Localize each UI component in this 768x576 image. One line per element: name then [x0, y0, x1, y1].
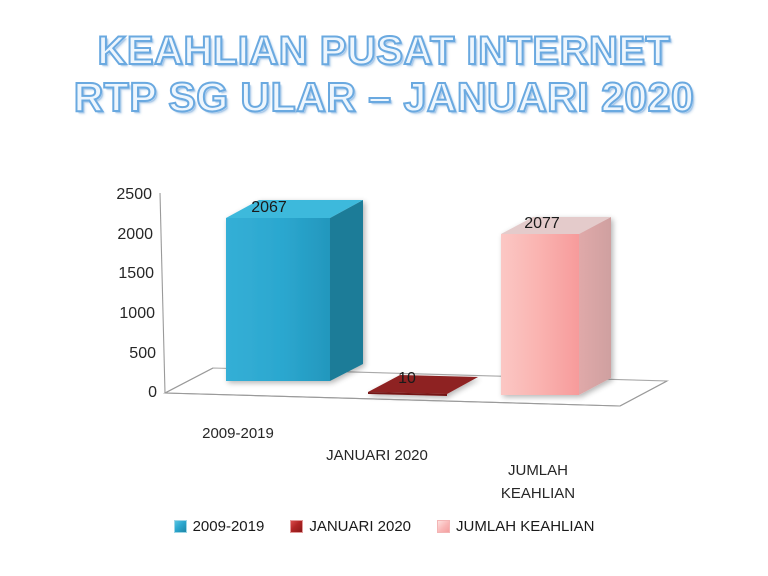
axis-tick-0: 0 — [148, 384, 157, 401]
legend-swatch-icon-1 — [174, 520, 187, 533]
legend-item-jumlah-keahlian[interactable]: JUMLAH KEAHLIAN — [437, 518, 594, 535]
legend-item-2009-2019[interactable]: 2009-2019 — [174, 518, 265, 535]
category-label-1: 2009-2019 — [202, 425, 274, 442]
legend-swatch-icon-3 — [437, 520, 450, 533]
bar-series-jumlah-keahlian[interactable] — [501, 217, 611, 395]
bar-1-side[interactable] — [330, 200, 363, 381]
bar-2-data-label: 10 — [398, 370, 416, 387]
category-label-2: JANUARI 2020 — [326, 447, 428, 464]
title-line-2: RTP SG ULAR – JANUARI 2020 — [0, 74, 768, 120]
axis-tick-2500: 2500 — [116, 186, 152, 203]
axis-tick-1000: 1000 — [119, 305, 155, 322]
title-line-1: KEAHLIAN PUSAT INTERNET — [0, 28, 768, 74]
legend-item-januari-2020[interactable]: JANUARI 2020 — [290, 518, 411, 535]
legend-label-1: 2009-2019 — [193, 518, 265, 535]
legend-label-3: JUMLAH KEAHLIAN — [456, 518, 594, 535]
legend-label-2: JANUARI 2020 — [309, 518, 411, 535]
bar-1-data-label: 2067 — [251, 199, 287, 216]
slide-canvas: KEAHLIAN PUSAT INTERNET RTP SG ULAR – JA… — [0, 0, 768, 576]
axis-tick-1500: 1500 — [118, 265, 154, 282]
bar-series-2009-2019[interactable] — [226, 200, 363, 381]
legend-swatch-icon-2 — [290, 520, 303, 533]
bar-chart-3d[interactable]: 2500 2000 1500 1000 500 0 2067 10 — [0, 150, 768, 530]
bar-1-front[interactable] — [226, 218, 330, 381]
bar-3-front[interactable] — [501, 234, 579, 395]
category-axis-labels: 2009-2019 JANUARI 2020 JUMLAH KEAHLIAN — [202, 425, 575, 502]
axis-tick-2000: 2000 — [117, 226, 153, 243]
chart-legend[interactable]: 2009-2019 JANUARI 2020 JUMLAH KEAHLIAN — [0, 518, 768, 535]
category-label-3-line1: JUMLAH — [508, 462, 568, 479]
value-axis-line — [160, 193, 165, 393]
bar-3-data-label: 2077 — [524, 215, 560, 232]
chart-title: KEAHLIAN PUSAT INTERNET RTP SG ULAR – JA… — [0, 28, 768, 120]
axis-tick-500: 500 — [129, 345, 156, 362]
value-axis-labels: 2500 2000 1500 1000 500 0 — [116, 186, 157, 401]
category-label-3-line2: KEAHLIAN — [501, 485, 575, 502]
bar-3-side[interactable] — [579, 217, 611, 395]
